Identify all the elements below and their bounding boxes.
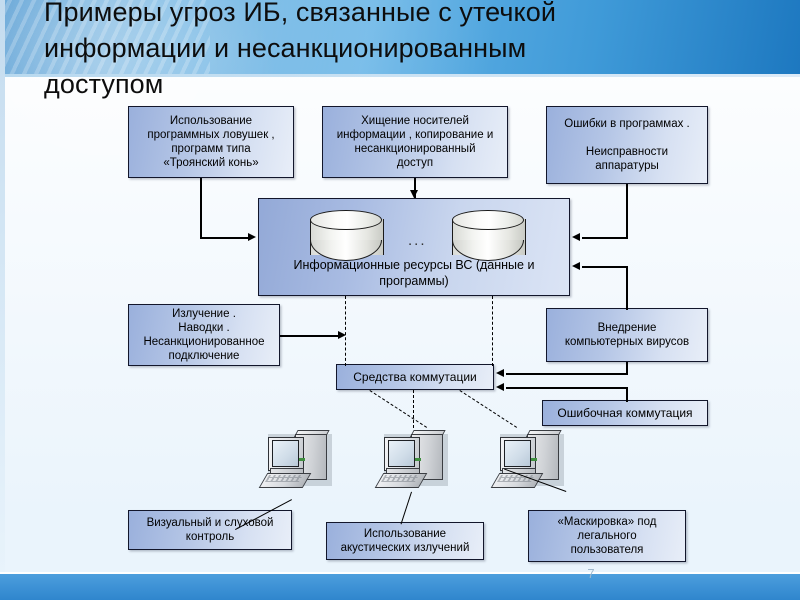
keyboard-keys: [381, 475, 419, 482]
page-title: Примеры угроз ИБ, связанные с утечкой ин…: [44, 0, 774, 102]
connector-error-up: [626, 388, 628, 402]
monitor-screen: [504, 440, 531, 467]
cylinder-separator: ...: [408, 232, 427, 249]
keyboard-keys: [265, 475, 303, 482]
node-acoustic-emissions[interactable]: Использование акустических излучений: [326, 522, 484, 560]
monitor-screen: [272, 440, 299, 467]
arrow-virus-to-resources: [572, 262, 580, 270]
node-radiation[interactable]: Излучение . Наводки . Несанкционированно…: [128, 304, 280, 366]
page-number: 7: [576, 566, 606, 581]
workstation-left: [262, 428, 336, 490]
left-rail-decoration: [0, 0, 5, 574]
monitor-screen: [388, 440, 415, 467]
node-switching-error[interactable]: Ошибочная коммутация: [542, 400, 708, 426]
node-media-theft[interactable]: Хищение носителей информации , копирован…: [322, 106, 508, 178]
node-switching-means[interactable]: Средства коммутации: [336, 364, 494, 390]
dashed-link-switching-left-pc: [369, 390, 427, 428]
cylinder-bottom: [310, 240, 382, 261]
connector-errors-horizontal: [582, 237, 628, 239]
workstation-right: [494, 428, 568, 490]
connector-virus-to-switching: [506, 373, 628, 375]
node-masquerade[interactable]: «Маскировка» под легального пользователя: [528, 510, 686, 562]
power-led: [299, 458, 305, 461]
node-visual-audio-control[interactable]: Визуальный и слуховой контроль: [128, 510, 292, 550]
connector-virus-horizontal: [582, 266, 628, 268]
arrow-error-to-switching: [496, 383, 504, 391]
dashed-link-switching-right-pc: [459, 390, 517, 428]
slide: Примеры угроз ИБ, связанные с утечкой ин…: [0, 0, 800, 600]
power-led: [531, 458, 537, 461]
database-cylinder-left: [310, 210, 382, 262]
power-led: [415, 458, 421, 461]
database-cylinder-right: [452, 210, 524, 262]
connector-virus-vertical: [626, 266, 628, 310]
node-virus-injection[interactable]: Внедрение компьютерных вирусов: [546, 308, 708, 362]
connector-traps-vertical: [200, 178, 202, 238]
arrow-virus-to-switching: [496, 369, 504, 377]
node-program-errors[interactable]: Ошибки в программах . Неисправности аппа…: [546, 106, 708, 184]
footer-band: [0, 574, 800, 600]
arrow-theft-to-resources: [410, 190, 418, 198]
dashed-link-resources-left: [345, 296, 346, 366]
dashed-link-resources-right: [492, 296, 493, 366]
connector-center-pc-to-acoustic: [401, 492, 412, 525]
connector-errors-vertical: [626, 184, 628, 238]
cylinder-top: [452, 210, 524, 230]
dashed-link-switching-center-pc: [413, 390, 414, 428]
connector-radiation-horizontal: [280, 335, 342, 337]
connector-traps-horizontal: [200, 237, 250, 239]
node-program-traps[interactable]: Использование программных ловушек , прог…: [128, 106, 294, 178]
workstation-center: [378, 428, 452, 490]
arrow-errors-to-resources: [572, 233, 580, 241]
arrow-traps-to-resources: [248, 233, 256, 241]
cylinder-top: [310, 210, 382, 230]
connector-error-to-switching: [506, 387, 628, 389]
cylinder-bottom: [452, 240, 524, 261]
